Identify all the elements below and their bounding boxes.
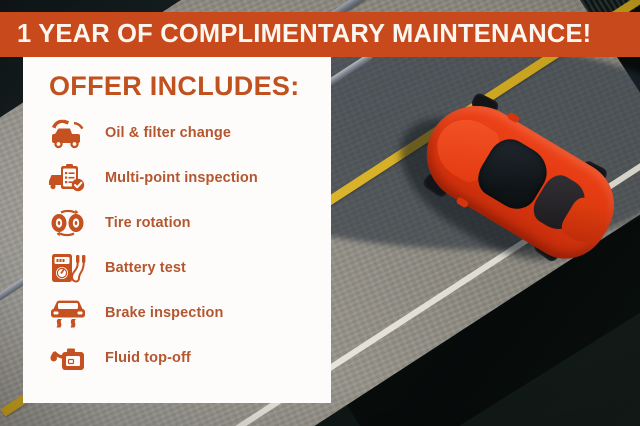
offer-item-fluid-top-off: Fluid top-off [23, 335, 331, 380]
oil-can-car-icon [45, 114, 91, 152]
car-skid-brake-icon [45, 294, 91, 332]
offer-item-label: Brake inspection [105, 305, 223, 321]
offer-item-label: Battery test [105, 260, 186, 276]
offer-item-label: Multi-point inspection [105, 170, 258, 186]
headline-text: 1 YEAR OF COMPLIMENTARY MAINTENANCE! [0, 20, 591, 49]
offer-item-multi-point-inspection: Multi-point inspection [23, 155, 331, 200]
offer-panel-title: OFFER INCLUDES: [23, 57, 331, 102]
offer-item-battery-test: Battery test [23, 245, 331, 290]
promo-graphic: 1 YEAR OF COMPLIMENTARY MAINTENANCE! OFF… [0, 0, 640, 426]
offer-item-label: Tire rotation [105, 215, 191, 231]
offer-item-label: Oil & filter change [105, 125, 231, 141]
offer-item-label: Fluid top-off [105, 350, 191, 366]
tire-rotation-icon [45, 204, 91, 242]
multimeter-battery-icon [45, 249, 91, 287]
offer-item-brake-inspection: Brake inspection [23, 290, 331, 335]
offer-panel: OFFER INCLUDES: [23, 57, 331, 403]
offer-list: Oil & filter change [23, 102, 331, 380]
fluid-jug-icon [45, 339, 91, 377]
headline-banner: 1 YEAR OF COMPLIMENTARY MAINTENANCE! [0, 12, 640, 57]
offer-item-tire-rotation: Tire rotation [23, 200, 331, 245]
offer-item-oil-filter-change: Oil & filter change [23, 110, 331, 155]
clipboard-check-icon [45, 159, 91, 197]
